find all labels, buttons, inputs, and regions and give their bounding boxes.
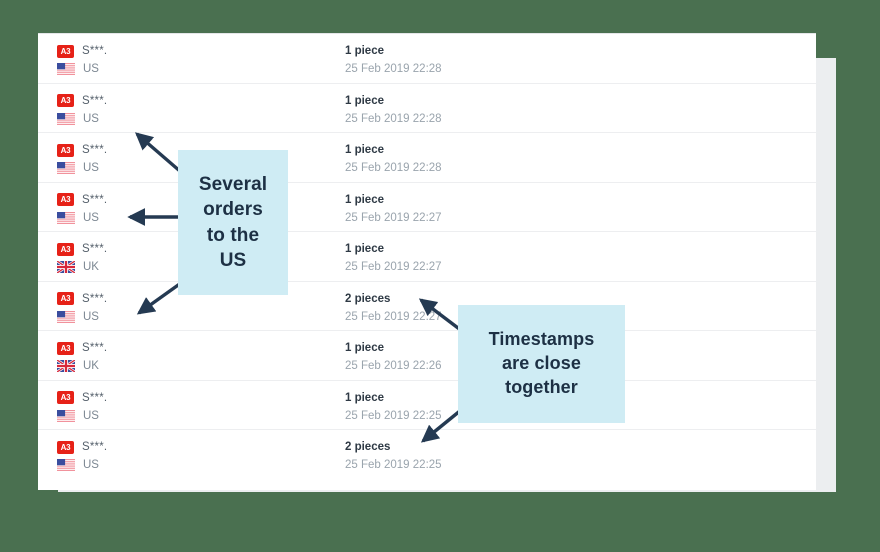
row-details-cell: 2 pieces25 Feb 2019 22:25 bbox=[310, 439, 816, 473]
row-seller-cell: A3S***.US bbox=[38, 291, 310, 325]
seller-line: A3S***. bbox=[57, 340, 310, 356]
us-flag-icon bbox=[57, 162, 75, 174]
order-timestamp: 25 Feb 2019 22:27 bbox=[345, 259, 816, 275]
country-line: US bbox=[57, 408, 310, 424]
pieces-count: 1 piece bbox=[345, 43, 816, 59]
row-details-cell: 1 piece25 Feb 2019 22:28 bbox=[310, 43, 816, 77]
rank-badge: A3 bbox=[57, 292, 74, 305]
seller-line: A3S***. bbox=[57, 439, 310, 455]
seller-name: S***. bbox=[82, 194, 107, 206]
pieces-count: 1 piece bbox=[345, 93, 816, 109]
order-timestamp: 25 Feb 2019 22:25 bbox=[345, 457, 816, 473]
row-seller-cell: A3S***.UK bbox=[38, 340, 310, 374]
country-line: US bbox=[57, 111, 310, 127]
country-label: US bbox=[83, 63, 99, 75]
table-row[interactable]: A3S***.UK1 piece25 Feb 2019 22:26 bbox=[38, 331, 816, 381]
us-flag-icon bbox=[57, 311, 75, 323]
uk-flag-icon bbox=[57, 360, 75, 372]
rank-badge: A3 bbox=[57, 441, 74, 454]
order-timestamp: 25 Feb 2019 22:28 bbox=[345, 111, 816, 127]
country-line: US bbox=[57, 457, 310, 473]
row-details-cell: 1 piece25 Feb 2019 22:28 bbox=[310, 142, 816, 176]
us-flag-icon bbox=[57, 113, 75, 125]
row-seller-cell: A3S***.US bbox=[38, 93, 310, 127]
table-row[interactable]: A3S***.UK1 piece25 Feb 2019 22:27 bbox=[38, 232, 816, 282]
table-row[interactable]: A3S***.US1 piece25 Feb 2019 22:27 bbox=[38, 183, 816, 233]
table-row[interactable]: A3S***.US2 pieces25 Feb 2019 22:27 bbox=[38, 282, 816, 332]
rank-badge: A3 bbox=[57, 391, 74, 404]
country-label: US bbox=[83, 410, 99, 422]
row-seller-cell: A3S***.US bbox=[38, 390, 310, 424]
callout-orders-line4: US bbox=[220, 248, 247, 273]
us-flag-icon bbox=[57, 212, 75, 224]
callout-orders-line3: to the bbox=[207, 223, 259, 248]
seller-name: S***. bbox=[82, 441, 107, 453]
screenshot-stage: A3S***.US1 piece25 Feb 2019 22:28A3S***.… bbox=[0, 0, 880, 552]
pieces-count: 1 piece bbox=[345, 241, 816, 257]
order-timestamp: 25 Feb 2019 22:28 bbox=[345, 160, 816, 176]
orders-card: A3S***.US1 piece25 Feb 2019 22:28A3S***.… bbox=[38, 33, 816, 490]
pieces-count: 2 pieces bbox=[345, 439, 816, 455]
us-flag-icon bbox=[57, 410, 75, 422]
order-timestamp: 25 Feb 2019 22:28 bbox=[345, 61, 816, 77]
seller-line: A3S***. bbox=[57, 43, 310, 59]
table-row[interactable]: A3S***.US1 piece25 Feb 2019 22:25 bbox=[38, 381, 816, 431]
callout-timestamps-line2: are close bbox=[502, 352, 581, 376]
order-timestamp: 25 Feb 2019 22:27 bbox=[345, 210, 816, 226]
table-row[interactable]: A3S***.US1 piece25 Feb 2019 22:28 bbox=[38, 34, 816, 84]
rank-badge: A3 bbox=[57, 45, 74, 58]
orders-list: A3S***.US1 piece25 Feb 2019 22:28A3S***.… bbox=[38, 34, 816, 480]
rank-badge: A3 bbox=[57, 144, 74, 157]
country-label: US bbox=[83, 311, 99, 323]
callout-timestamps-line3: together bbox=[505, 376, 578, 400]
seller-name: S***. bbox=[82, 243, 107, 255]
table-row[interactable]: A3S***.US2 pieces25 Feb 2019 22:25 bbox=[38, 430, 816, 480]
country-label: US bbox=[83, 113, 99, 125]
row-seller-cell: A3S***.US bbox=[38, 439, 310, 473]
uk-flag-icon bbox=[57, 261, 75, 273]
rank-badge: A3 bbox=[57, 342, 74, 355]
rank-badge: A3 bbox=[57, 94, 74, 107]
country-label: UK bbox=[83, 360, 99, 372]
country-label: US bbox=[83, 459, 99, 471]
pieces-count: 1 piece bbox=[345, 142, 816, 158]
pieces-count: 1 piece bbox=[345, 192, 816, 208]
row-details-cell: 1 piece25 Feb 2019 22:28 bbox=[310, 93, 816, 127]
callout-orders-line1: Several bbox=[199, 172, 267, 197]
seller-name: S***. bbox=[82, 95, 107, 107]
seller-name: S***. bbox=[82, 293, 107, 305]
rank-badge: A3 bbox=[57, 243, 74, 256]
country-label: UK bbox=[83, 261, 99, 273]
row-details-cell: 1 piece25 Feb 2019 22:27 bbox=[310, 192, 816, 226]
country-label: US bbox=[83, 212, 99, 224]
us-flag-icon bbox=[57, 459, 75, 471]
table-row[interactable]: A3S***.US1 piece25 Feb 2019 22:28 bbox=[38, 133, 816, 183]
seller-line: A3S***. bbox=[57, 390, 310, 406]
callout-several-orders: Several orders to the US bbox=[178, 150, 288, 295]
seller-name: S***. bbox=[82, 45, 107, 57]
country-line: UK bbox=[57, 358, 310, 374]
country-label: US bbox=[83, 162, 99, 174]
callout-timestamps-line1: Timestamps bbox=[489, 328, 595, 352]
callout-timestamps: Timestamps are close together bbox=[458, 305, 625, 423]
seller-name: S***. bbox=[82, 144, 107, 156]
seller-name: S***. bbox=[82, 342, 107, 354]
country-line: US bbox=[57, 61, 310, 77]
callout-orders-line2: orders bbox=[203, 197, 263, 222]
row-seller-cell: A3S***.US bbox=[38, 43, 310, 77]
seller-line: A3S***. bbox=[57, 93, 310, 109]
country-line: US bbox=[57, 309, 310, 325]
row-details-cell: 1 piece25 Feb 2019 22:27 bbox=[310, 241, 816, 275]
rank-badge: A3 bbox=[57, 193, 74, 206]
table-row[interactable]: A3S***.US1 piece25 Feb 2019 22:28 bbox=[38, 84, 816, 134]
us-flag-icon bbox=[57, 63, 75, 75]
seller-name: S***. bbox=[82, 392, 107, 404]
